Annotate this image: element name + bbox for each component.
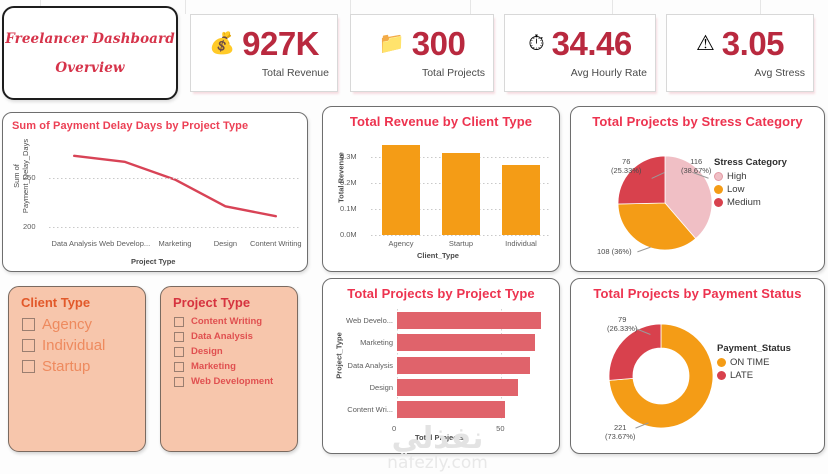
top-divider [760, 0, 761, 14]
report-title-card: Freelancer Dashboard Overview [2, 6, 178, 100]
hbar-plot-area: Project_Type 050Web Develo...MarketingDa… [323, 303, 561, 455]
slicer-item-individual[interactable]: Individual [9, 335, 145, 356]
slicer-item-startup[interactable]: Startup [9, 356, 145, 377]
kpi-value-row: ⏱ 34.46 [505, 15, 655, 67]
checkbox-icon[interactable] [22, 339, 35, 352]
y-tick-label: 250 [23, 173, 36, 182]
money-bag-icon: 💰 [209, 33, 235, 54]
legend-swatch [714, 172, 723, 181]
slicer-item-agency[interactable]: Agency [9, 314, 145, 335]
slicer-project-type[interactable]: Project Type Content Writing Data Analys… [160, 286, 298, 452]
slicer-item-marketing[interactable]: Marketing [161, 359, 297, 374]
dashboard-canvas: Freelancer Dashboard Overview 💰 927K Tot… [0, 0, 828, 474]
legend-item-low[interactable]: Low [714, 184, 787, 195]
checkbox-icon[interactable] [22, 360, 35, 373]
legend-item-high[interactable]: High [714, 171, 787, 182]
chart-title: Sum of Payment Delay Days by Project Typ… [3, 113, 307, 132]
checkbox-icon[interactable] [174, 362, 184, 372]
donut-data-label: 221(73.67%) [605, 423, 635, 441]
slicer-item-label: Startup [42, 358, 90, 375]
chart-title: Total Projects by Payment Status [571, 279, 824, 301]
legend-item-late[interactable]: LATE [717, 370, 791, 381]
top-divider [612, 0, 613, 14]
y-tick-label: Content Wri... [337, 405, 393, 414]
folder-icon: 📁 [379, 33, 405, 54]
bar-plot-area: Total Revenue 0.0M0.1M0.2M0.3M AgencySta… [323, 131, 561, 273]
kpi-label: Total Projects [351, 67, 493, 79]
line-series [3, 133, 309, 271]
legend-label: ON TIME [730, 357, 769, 368]
y-tick-label: 0.2M [340, 178, 357, 187]
x-tick-label: Design [199, 240, 251, 249]
slicer-item-data-analysis[interactable]: Data Analysis [161, 329, 297, 344]
page-title-line1: Freelancer Dashboard [5, 31, 175, 47]
bar[interactable] [502, 165, 539, 235]
pie-data-label: 76(25.33%) [611, 157, 641, 175]
kpi-card-avg-hourly-rate[interactable]: ⏱ 34.46 Avg Hourly Rate [504, 14, 656, 92]
gridline [49, 178, 301, 179]
x-tick-label: Marketing [149, 240, 201, 249]
watermark-latin: nafezly.com [330, 453, 545, 473]
warning-icon: ⚠ [696, 33, 715, 54]
y-tick-label: 200 [23, 222, 36, 231]
x-tick-label: 50 [496, 424, 504, 433]
kpi-value: 3.05 [722, 27, 784, 60]
checkbox-icon[interactable] [174, 332, 184, 342]
legend: Stress Category High Low Medium [714, 157, 787, 208]
chart-title: Total Projects by Stress Category [571, 107, 824, 129]
legend-label: Low [727, 184, 744, 195]
pie-plot-area: 116(38.67%)108 (36%)76(25.33%) Stress Ca… [571, 131, 826, 273]
slicer-item-label: Data Analysis [191, 331, 253, 342]
slicer-item-label: Agency [42, 316, 92, 333]
y-tick-label: 0.1M [340, 204, 357, 213]
kpi-card-avg-stress[interactable]: ⚠ 3.05 Avg Stress [666, 14, 814, 92]
slicer-client-type[interactable]: Client Type Agency Individual Startup [8, 286, 146, 452]
kpi-value: 300 [412, 27, 466, 60]
legend-swatch [714, 185, 723, 194]
bar[interactable] [397, 312, 541, 329]
y-tick-label: 0.3M [340, 152, 357, 161]
checkbox-icon[interactable] [174, 377, 184, 387]
bar[interactable] [397, 401, 505, 418]
legend-item-medium[interactable]: Medium [714, 197, 787, 208]
chart-revenue-by-client-type[interactable]: Total Revenue by Client Type Total Reven… [322, 106, 560, 272]
y-tick-label: Marketing [337, 338, 393, 347]
legend-label: LATE [730, 370, 753, 381]
bar[interactable] [397, 379, 518, 396]
checkbox-icon[interactable] [22, 318, 35, 331]
bar[interactable] [397, 357, 530, 374]
slicer-item-label: Web Development [191, 376, 273, 387]
chart-projects-by-stress-category[interactable]: Total Projects by Stress Category 116(38… [570, 106, 825, 272]
legend-item-on-time[interactable]: ON TIME [717, 357, 791, 368]
stopwatch-icon: ⏱ [528, 33, 544, 54]
chart-projects-by-payment-status[interactable]: Total Projects by Payment Status 221(73.… [570, 278, 825, 454]
kpi-card-total-projects[interactable]: 📁 300 Total Projects [350, 14, 494, 92]
legend-swatch [717, 371, 726, 380]
x-tick-label: Startup [431, 239, 491, 248]
kpi-value: 927K [242, 27, 319, 60]
kpi-value: 34.46 [552, 27, 632, 60]
slicer-item-label: Design [191, 346, 223, 357]
kpi-label: Avg Stress [667, 67, 813, 79]
top-divider [470, 0, 471, 14]
kpi-card-total-revenue[interactable]: 💰 927K Total Revenue [190, 14, 338, 92]
kpi-value-row: ⚠ 3.05 [667, 15, 813, 67]
legend-title: Stress Category [714, 157, 787, 168]
pie-data-label: 108 (36%) [597, 247, 632, 256]
bar[interactable] [382, 145, 419, 235]
kpi-value-row: 📁 300 [351, 15, 493, 67]
x-axis-label: Client_Type [417, 251, 459, 260]
top-divider [185, 0, 186, 14]
slicer-item-web-development[interactable]: Web Development [161, 374, 297, 389]
line-plot-area: Sum of Payment_Delay_Days 200250Data Ana… [3, 133, 309, 271]
checkbox-icon[interactable] [174, 347, 184, 357]
legend-label: High [727, 171, 747, 182]
checkbox-icon[interactable] [174, 317, 184, 327]
x-axis-label: Total Projects [415, 433, 464, 442]
legend-label: Medium [727, 197, 761, 208]
chart-title: Total Revenue by Client Type [323, 107, 559, 129]
slicer-item-label: Content Writing [191, 316, 262, 327]
gridline [49, 227, 301, 228]
y-tick-label: 0.0M [340, 230, 357, 239]
bar[interactable] [442, 153, 479, 235]
page-title-line2: Overview [55, 60, 124, 76]
gridline [371, 235, 551, 236]
x-tick-label: Content Writing [250, 240, 302, 249]
x-tick-label: Data Analysis [48, 240, 100, 249]
top-divider [350, 0, 351, 14]
chart-title: Total Projects by Project Type [323, 279, 559, 301]
kpi-label: Avg Hourly Rate [505, 67, 655, 79]
y-tick-label: Data Analysis [337, 361, 393, 370]
slicer-title: Client Type [9, 287, 145, 314]
slicer-title: Project Type [161, 287, 297, 314]
chart-projects-by-project-type[interactable]: Total Projects by Project Type Project_T… [322, 278, 560, 454]
legend-title: Payment_Status [717, 343, 791, 354]
legend-swatch [714, 198, 723, 207]
legend: Payment_Status ON TIME LATE [717, 343, 791, 381]
donut-data-label: 79(26.33%) [607, 315, 637, 333]
kpi-label: Total Revenue [191, 67, 337, 79]
bar[interactable] [397, 334, 535, 351]
x-tick-label: Agency [371, 239, 431, 248]
y-tick-label: Web Develo... [337, 316, 393, 325]
chart-payment-delay-line[interactable]: Sum of Payment Delay Days by Project Typ… [2, 112, 308, 272]
x-tick-label: 0 [392, 424, 396, 433]
donut-plot-area: 221(73.67%)79(26.33%) Payment_Status ON … [571, 303, 826, 455]
legend-swatch [717, 358, 726, 367]
x-tick-label: Individual [491, 239, 551, 248]
x-tick-label: Web Develop... [99, 240, 151, 249]
kpi-value-row: 💰 927K [191, 15, 337, 67]
x-axis-label: Project Type [131, 257, 175, 266]
y-tick-label: Design [337, 383, 393, 392]
slicer-item-content-writing[interactable]: Content Writing [161, 314, 297, 329]
slicer-item-label: Marketing [191, 361, 236, 372]
slicer-item-label: Individual [42, 337, 105, 354]
slicer-item-design[interactable]: Design [161, 344, 297, 359]
